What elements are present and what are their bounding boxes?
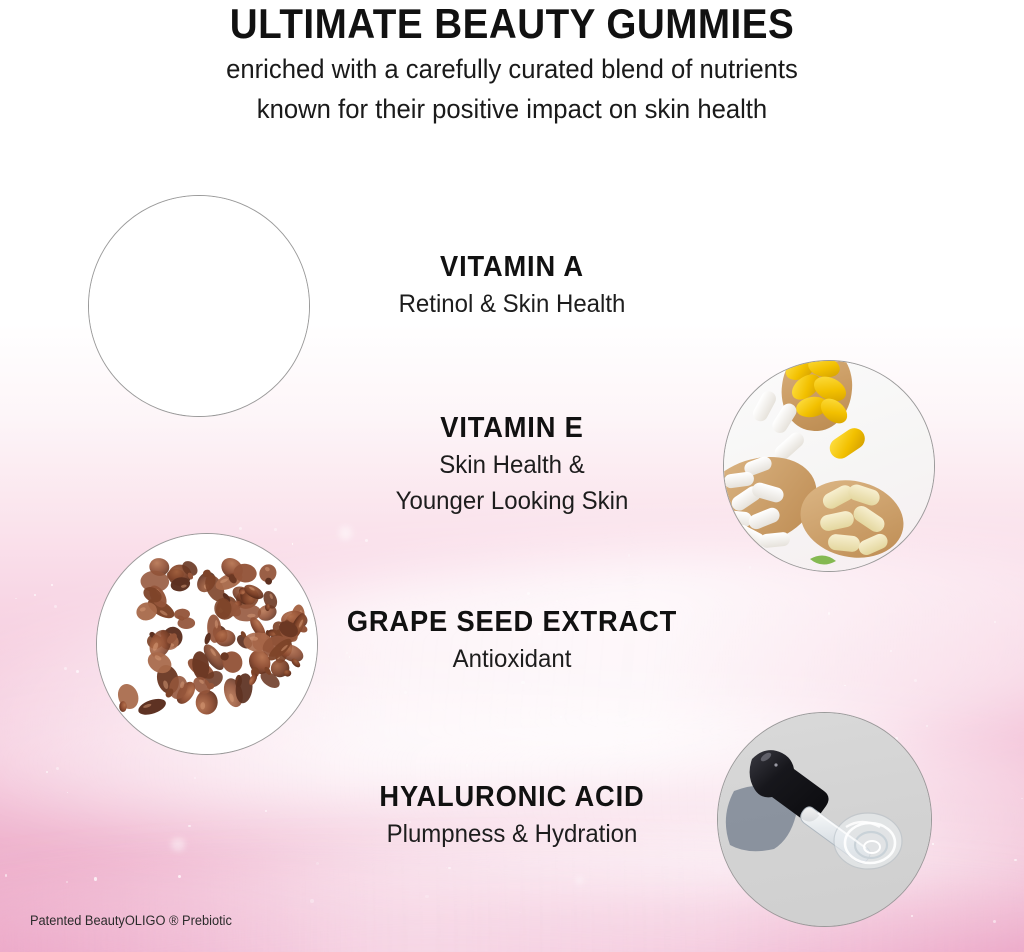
ingredient-title: VITAMIN A [324,252,700,284]
ingredient-text-hyaluronic-acid: HYALURONIC ACID Plumpness & Hydration [312,782,712,850]
ingredient-text-vitamin-a: VITAMIN A Retinol & Skin Health [312,252,712,320]
capsules-icon [724,361,934,571]
ingredient-text-vitamin-e: VITAMIN E Skin Health & Younger Looking … [312,413,712,518]
grape-seeds-image [96,533,318,755]
dropper-image [717,712,932,927]
patent-footnote: Patented BeautyOLIGO ® Prebiotic [30,913,232,928]
grape-seeds-icon [97,534,317,754]
pipette-dropper-icon [718,713,931,926]
ingredient-subtitle: Retinol & Skin Health [320,284,704,321]
header-block: ULTIMATE BEAUTY GUMMIES enriched with a … [0,0,1024,126]
ingredient-subtitle-line-1: Skin Health & [320,445,704,482]
subtitle-line-2: known for their positive impact on skin … [26,86,999,126]
ingredient-subtitle-line-2: Younger Looking Skin [320,481,704,518]
ingredient-subtitle: Antioxidant [320,639,704,676]
oil-droplet-image [88,195,310,417]
ingredient-title: VITAMIN E [324,413,700,445]
subtitle-line-1: enriched with a carefully curated blend … [26,46,999,86]
infographic-canvas: ULTIMATE BEAUTY GUMMIES enriched with a … [0,0,1024,952]
ingredient-title: HYALURONIC ACID [324,782,700,814]
page-title: ULTIMATE BEAUTY GUMMIES [41,0,983,46]
ingredient-subtitle: Plumpness & Hydration [320,814,704,851]
ingredient-title: GRAPE SEED EXTRACT [324,607,700,639]
capsules-image [723,360,935,572]
ingredient-text-grape-seed: GRAPE SEED EXTRACT Antioxidant [312,607,712,675]
